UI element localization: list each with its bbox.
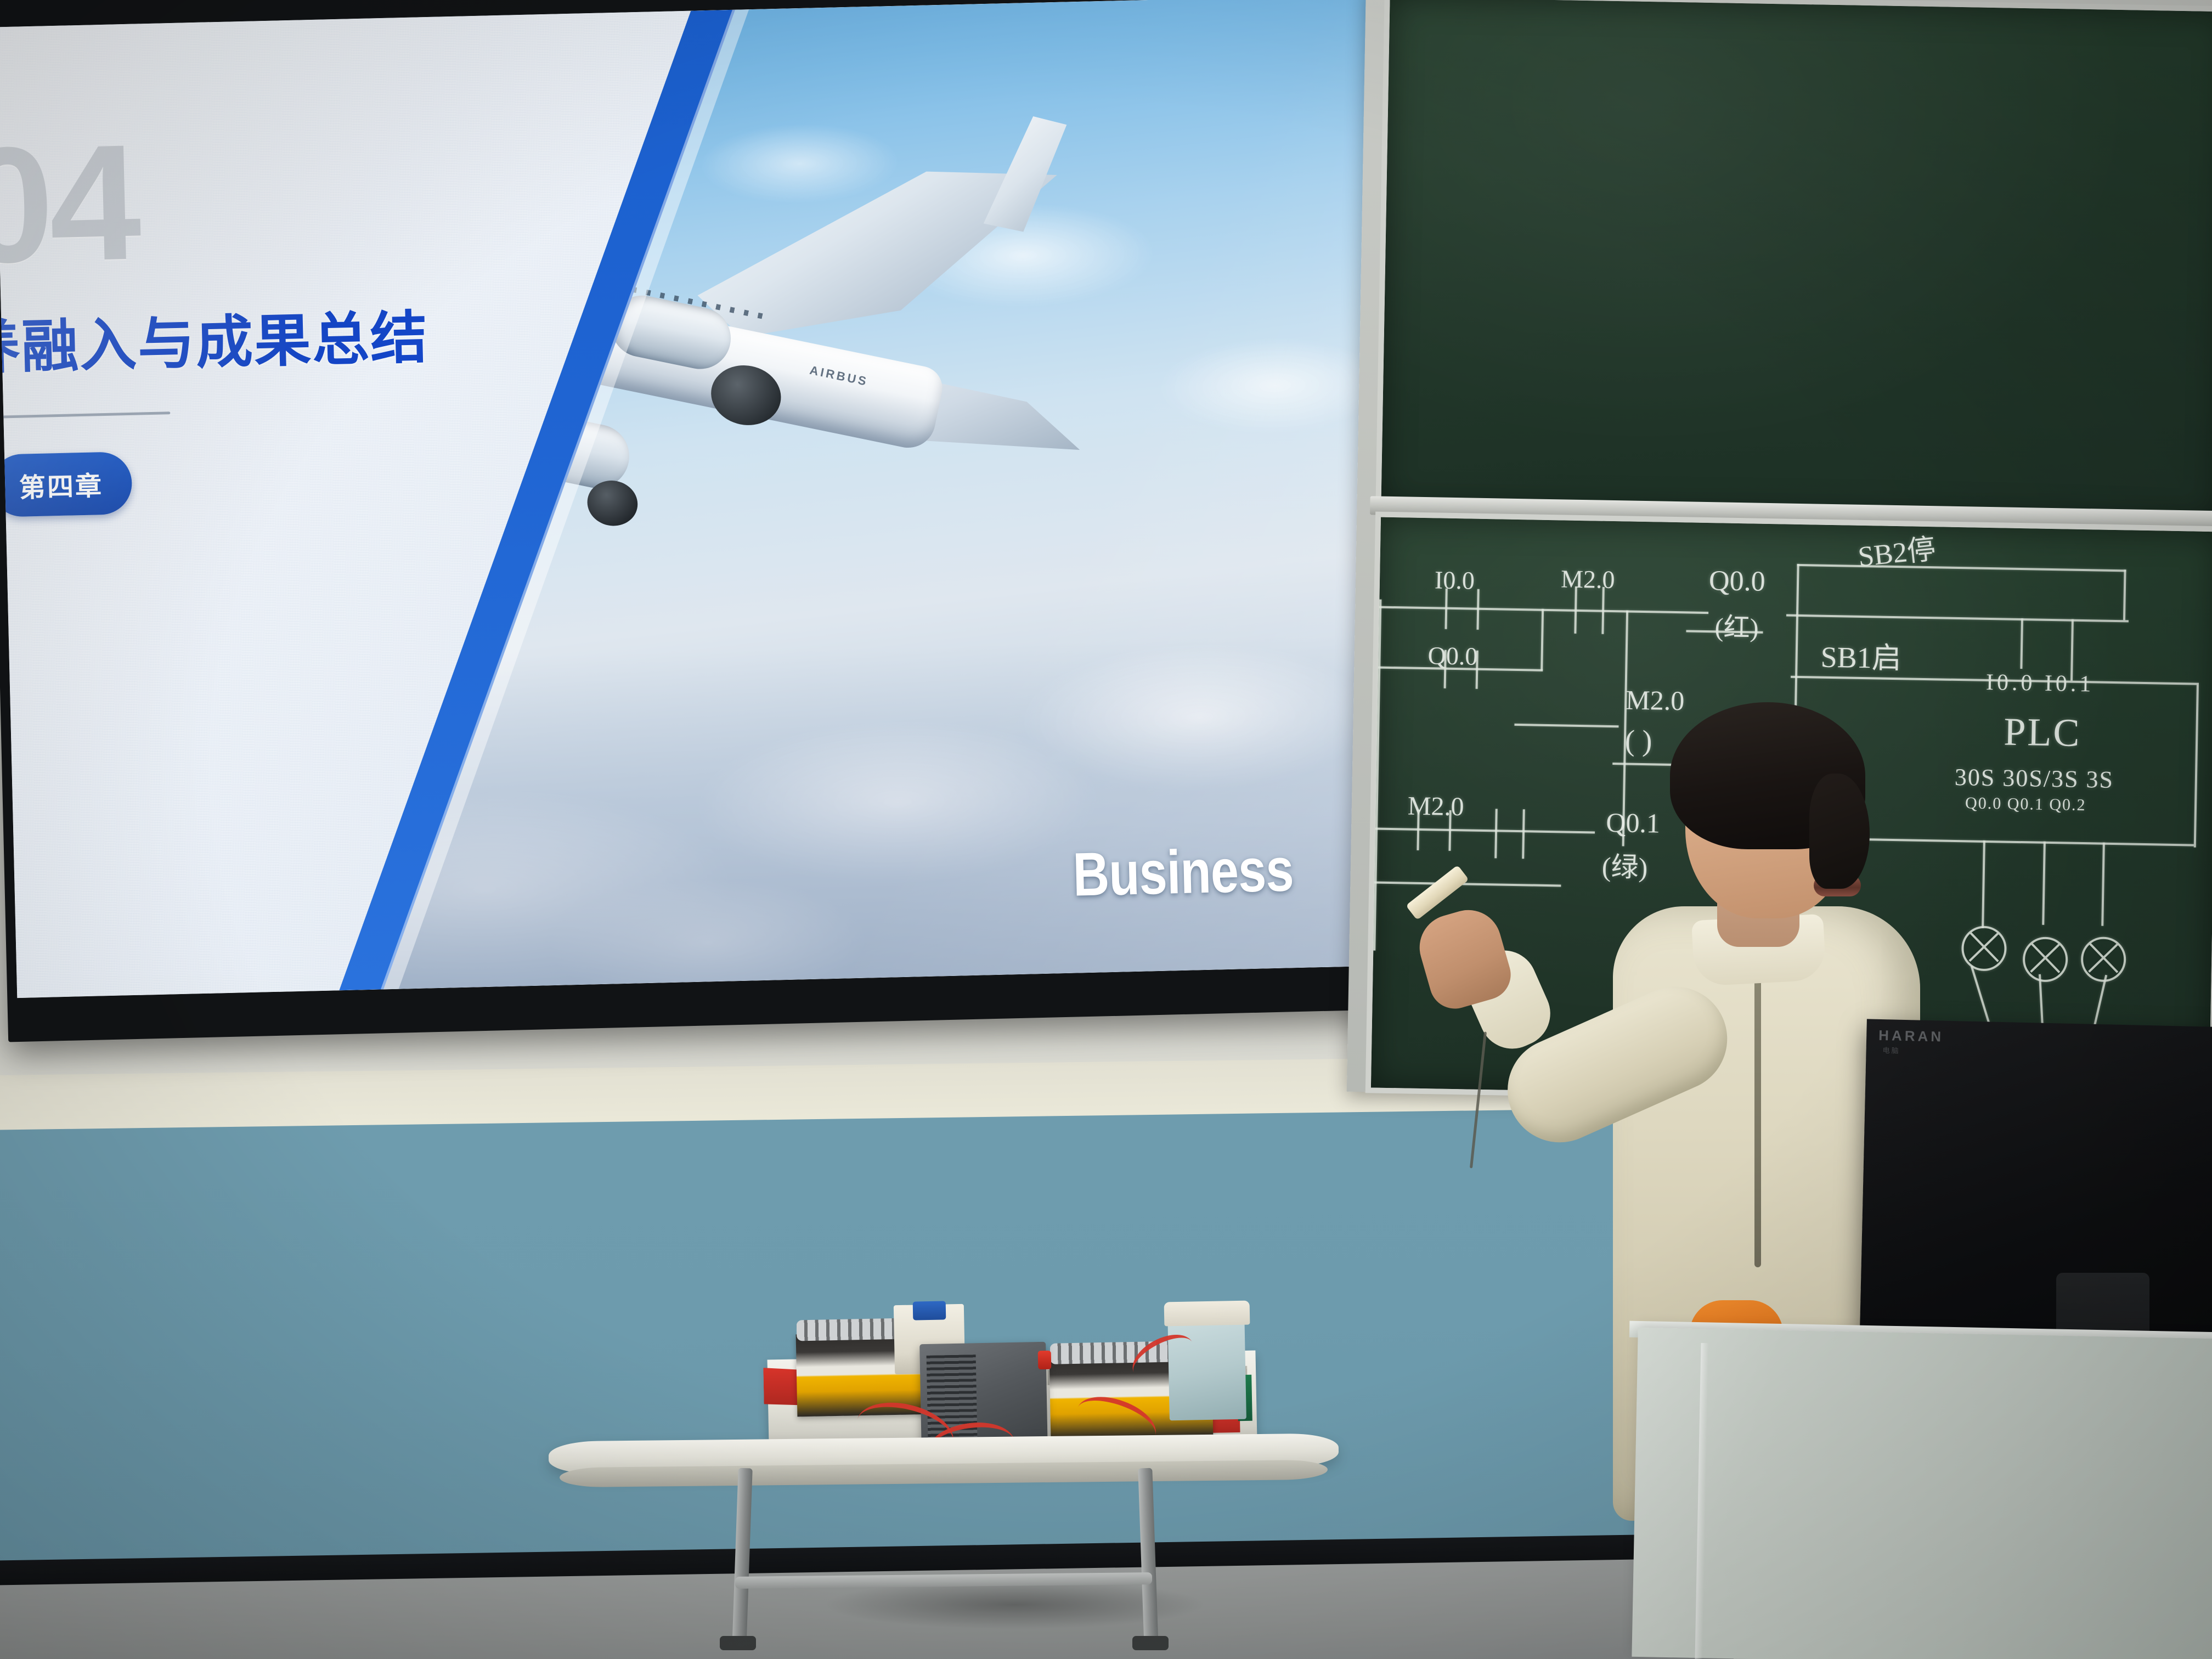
slide-divider-rule — [0, 411, 170, 419]
chalk-label-q00-latch: Q0.0 — [1427, 641, 1478, 671]
chalk-output-drop-1 — [2042, 842, 2046, 925]
slide-section-title: 素养融入与成果总结 — [0, 285, 680, 386]
chalk-wire-right — [2123, 569, 2126, 620]
chalk-input-drop-a — [2020, 618, 2023, 669]
chalk-contact-m20-b — [1601, 587, 1605, 634]
jacket-zipper — [1754, 960, 1761, 1267]
chalk-contact-m20-3a — [1417, 810, 1419, 850]
chalk-rung3-rail — [1375, 828, 1595, 834]
chalk-output-drop-2 — [2101, 843, 2105, 926]
chalk-label-q00-color-red: (红) — [1714, 605, 1759, 644]
chalk-contact-latch-b — [1476, 651, 1479, 689]
chalk-label-i00: I0.0 — [1435, 565, 1475, 595]
projection-screen: AIRBUS Business 04 素养融入与成果总结 第四章 — [0, 0, 1413, 1042]
table-foot-left — [720, 1636, 756, 1650]
chalk-contact-i00-a — [1444, 589, 1447, 629]
chalk-contact-extra-b — [1522, 809, 1525, 859]
slide-section-number: 04 — [0, 118, 678, 276]
chalk-contact-extra-a — [1494, 809, 1498, 858]
circuit-breaker-toggle[interactable] — [913, 1301, 946, 1320]
lectern-podium — [1632, 1328, 2212, 1659]
chalkboard-upper-panel — [1375, 0, 2212, 527]
chalk-contact-latch-a — [1444, 650, 1447, 689]
chalk-lamp-symbol-1 — [2022, 936, 2068, 982]
table-foot-right — [1132, 1636, 1169, 1650]
slide-text-block: 04 素养融入与成果总结 第四章 — [0, 118, 683, 519]
chalk-wire-top — [1797, 564, 2126, 572]
chalk-wire-mid — [1786, 614, 2129, 623]
chalk-label-plc-box: PLC — [2004, 709, 2081, 756]
chalk-label-sb1-start: SB1启 — [1820, 633, 1901, 678]
screen-surface: AIRBUS Business 04 素养融入与成果总结 第四章 — [0, 0, 1400, 998]
chalk-label-q00-coil: Q0.0 — [1709, 565, 1766, 598]
slide-chapter-badge: 第四章 — [0, 452, 132, 517]
slide-photo-caption: Business — [1072, 834, 1294, 910]
chalk-latch-riser — [1541, 609, 1544, 670]
chalk-label-m20-nc: M2.0 — [1561, 564, 1615, 594]
chalk-plc-box-right — [2194, 683, 2199, 848]
monitor-brand-logo: HARAN — [1878, 1027, 1944, 1046]
classroom-scene-photo: AIRBUS Business 04 素养融入与成果总结 第四章 I0.0 M2… — [0, 0, 2212, 1659]
power-supply-cover — [1164, 1301, 1250, 1327]
chalk-contact-m20-a — [1574, 586, 1577, 634]
monitor-brand-sublabel: 电脑 — [1882, 1045, 1900, 1056]
chalk-lamp-symbol-2 — [2080, 936, 2126, 982]
chalk-label-plc-inputs: I0.0 I0.1 — [1986, 669, 2095, 697]
chalk-label-m20-contact3: M2.0 — [1407, 791, 1464, 822]
plc-status-led — [1038, 1351, 1052, 1369]
chalk-left-power-rail — [1373, 600, 1381, 951]
chalk-rung3-latch-rail — [1374, 882, 1561, 887]
chalk-contact-m20-3b — [1448, 810, 1451, 851]
chalk-contact-i00-b — [1476, 589, 1479, 630]
